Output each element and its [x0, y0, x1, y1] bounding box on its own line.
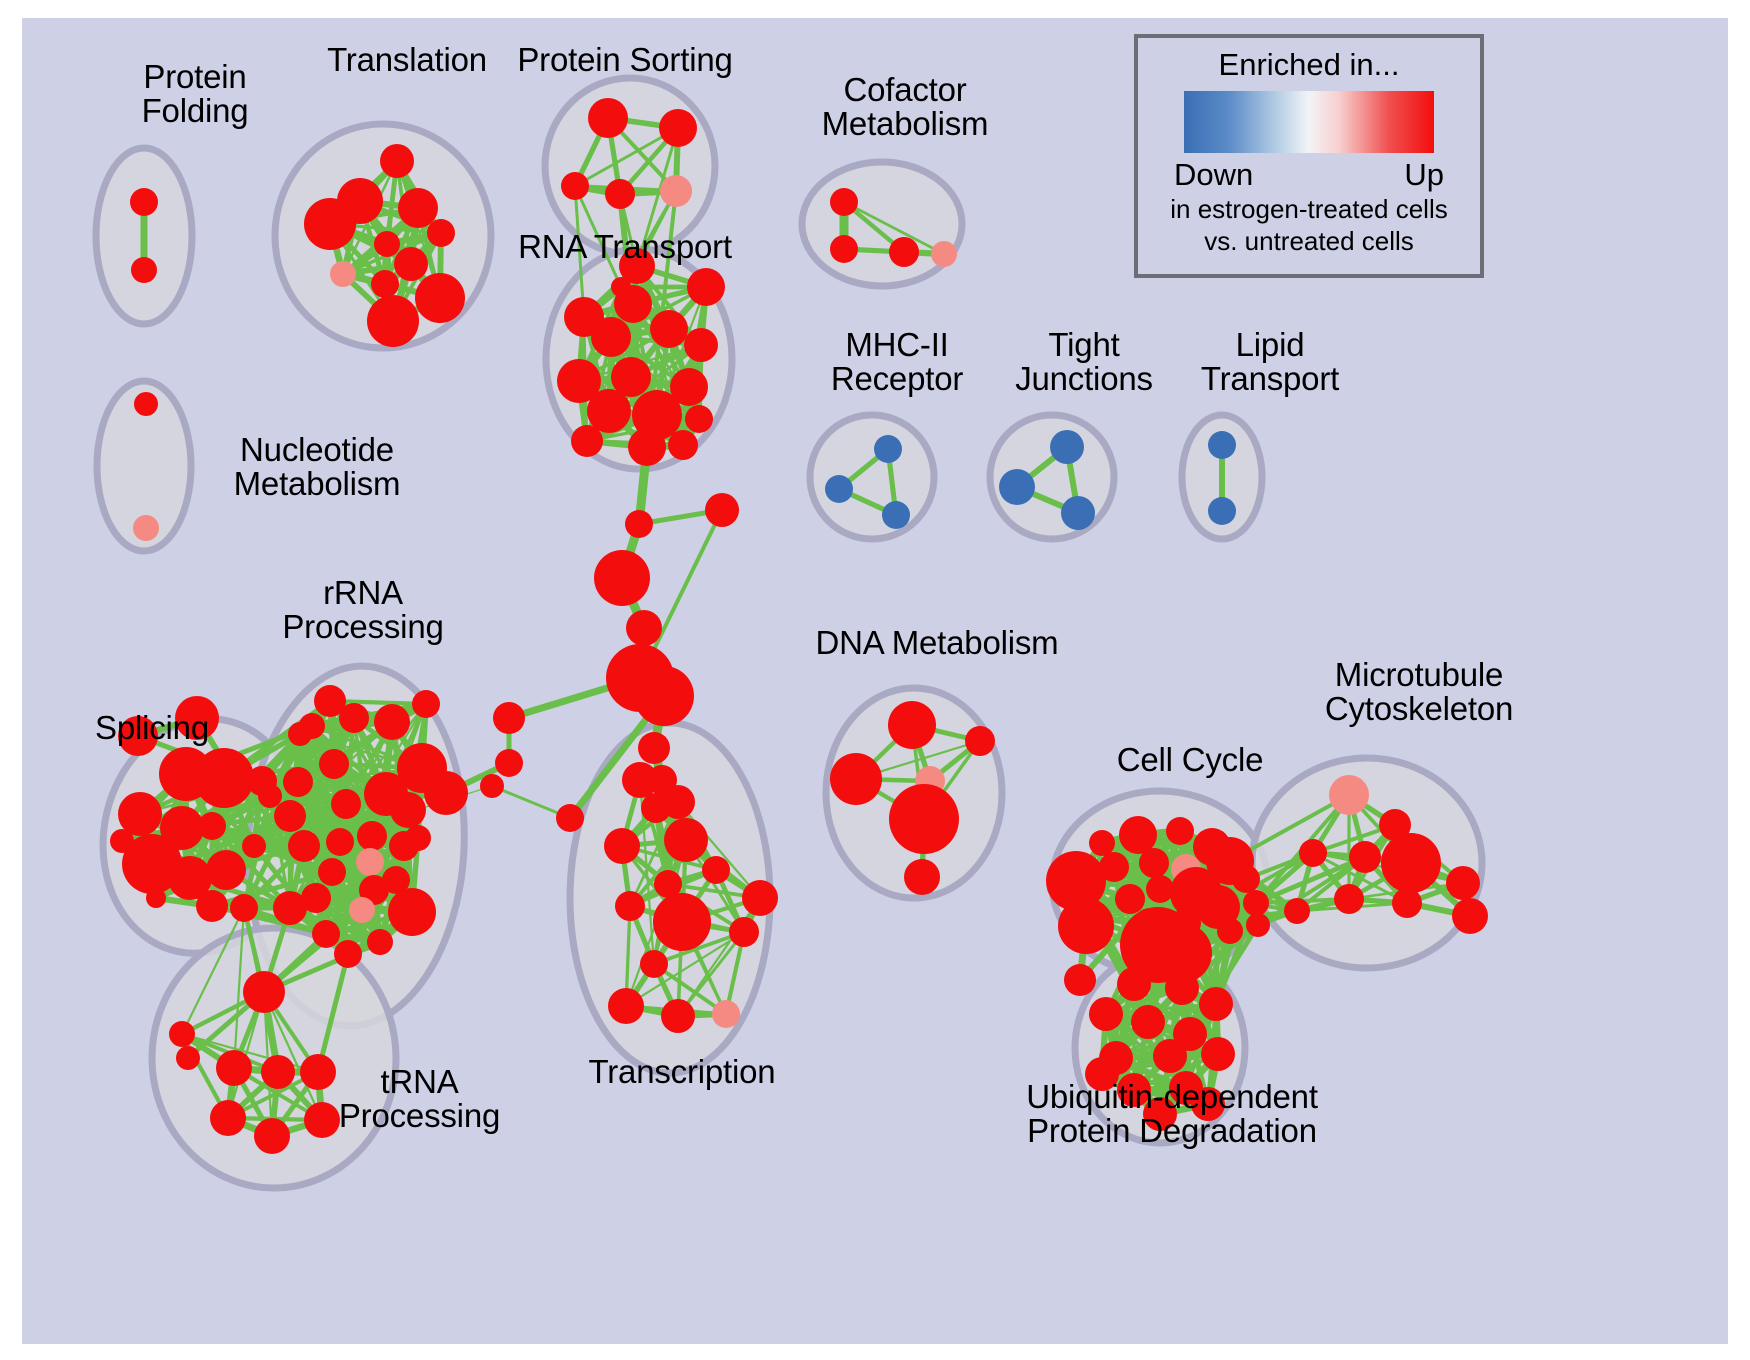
network-node[interactable]: [587, 389, 631, 433]
network-node[interactable]: [299, 713, 325, 739]
network-node[interactable]: [591, 317, 631, 357]
network-node[interactable]: [1050, 430, 1084, 464]
network-node[interactable]: [427, 219, 455, 247]
cluster-label: Ubiquitin-dependent Protein Degradation: [972, 1080, 1372, 1148]
network-node[interactable]: [1284, 898, 1310, 924]
network-node[interactable]: [615, 891, 645, 921]
network-node[interactable]: [331, 789, 361, 819]
network-node[interactable]: [687, 268, 725, 306]
network-node[interactable]: [1208, 497, 1236, 525]
network-node[interactable]: [664, 818, 708, 862]
network-node[interactable]: [243, 971, 285, 1013]
network-node[interactable]: [405, 825, 431, 851]
legend-box: Enriched in... Down Up in estrogen-treat…: [1134, 34, 1484, 278]
network-node[interactable]: [371, 270, 399, 298]
network-node[interactable]: [889, 237, 919, 267]
network-node[interactable]: [274, 800, 306, 832]
network-node[interactable]: [206, 850, 246, 890]
network-node[interactable]: [349, 897, 375, 923]
network-node[interactable]: [608, 988, 644, 1024]
network-node[interactable]: [712, 1000, 740, 1028]
network-node[interactable]: [424, 771, 468, 815]
network-node[interactable]: [634, 666, 694, 726]
network-node[interactable]: [134, 392, 158, 416]
network-node[interactable]: [261, 1055, 295, 1089]
figure-canvas: Protein FoldingTranslationProtein Sortin…: [0, 0, 1750, 1360]
network-node[interactable]: [641, 793, 671, 823]
cluster-label: Tight Junctions: [984, 328, 1184, 396]
network-node[interactable]: [334, 940, 362, 968]
cluster-label: rRNA Processing: [258, 576, 468, 644]
network-node[interactable]: [1299, 839, 1327, 867]
network-node[interactable]: [131, 257, 157, 283]
network-node[interactable]: [1166, 817, 1194, 845]
network-node[interactable]: [1064, 964, 1096, 996]
cluster-label: Protein Folding: [100, 60, 290, 128]
network-node[interactable]: [493, 702, 525, 734]
network-node[interactable]: [312, 920, 340, 948]
network-node[interactable]: [242, 834, 266, 858]
network-node[interactable]: [889, 784, 959, 854]
network-node[interactable]: [647, 765, 677, 795]
network-node[interactable]: [931, 241, 957, 267]
network-node[interactable]: [217, 758, 241, 782]
cluster-label: Nucleotide Metabolism: [202, 433, 432, 501]
network-node[interactable]: [318, 858, 346, 886]
network-node[interactable]: [1146, 875, 1174, 903]
network-node[interactable]: [254, 1118, 290, 1154]
network-node[interactable]: [1117, 967, 1151, 1001]
network-node[interactable]: [604, 828, 640, 864]
legend-down-label: Down: [1174, 157, 1253, 193]
network-node[interactable]: [356, 848, 384, 876]
legend-title: Enriched in...: [1219, 47, 1400, 83]
network-node[interactable]: [339, 703, 369, 733]
network-node[interactable]: [273, 891, 307, 925]
network-node[interactable]: [388, 888, 436, 936]
network-node[interactable]: [571, 425, 603, 457]
network-node[interactable]: [653, 893, 711, 951]
network-node[interactable]: [198, 812, 226, 840]
cluster-label: RNA Transport: [500, 230, 750, 264]
network-node[interactable]: [705, 493, 739, 527]
network-node[interactable]: [110, 829, 134, 853]
network-node[interactable]: [742, 880, 778, 916]
network-node[interactable]: [258, 784, 282, 808]
cluster-label: Microtubule Cytoskeleton: [1294, 658, 1544, 726]
network-node[interactable]: [390, 792, 426, 828]
legend-caption-line2: vs. untreated cells: [1204, 226, 1414, 257]
cluster-hull: [802, 162, 962, 286]
network-node[interactable]: [659, 109, 697, 147]
network-node[interactable]: [288, 830, 320, 862]
network-node[interactable]: [480, 774, 504, 798]
network-node[interactable]: [638, 732, 670, 764]
network-node[interactable]: [1058, 898, 1114, 954]
network-node[interactable]: [304, 198, 356, 250]
network-node[interactable]: [196, 890, 228, 922]
network-node[interactable]: [394, 247, 428, 281]
network-node[interactable]: [380, 144, 414, 178]
network-node[interactable]: [495, 749, 523, 777]
legend-colorbar: [1184, 91, 1434, 153]
network-node[interactable]: [904, 859, 940, 895]
network-node[interactable]: [210, 1100, 246, 1136]
network-node[interactable]: [888, 701, 936, 749]
network-node[interactable]: [825, 475, 853, 503]
network-node[interactable]: [999, 469, 1035, 505]
cluster-label: Protein Sorting: [500, 43, 750, 77]
network-node[interactable]: [882, 501, 910, 529]
network-node[interactable]: [1131, 1005, 1165, 1039]
network-node[interactable]: [130, 188, 158, 216]
network-node[interactable]: [216, 1050, 252, 1086]
network-node[interactable]: [594, 550, 650, 606]
network-node[interactable]: [398, 188, 438, 228]
network-node[interactable]: [561, 172, 589, 200]
network-node[interactable]: [611, 277, 631, 297]
network-node[interactable]: [650, 310, 688, 348]
network-plot-area: Protein FoldingTranslationProtein Sortin…: [22, 18, 1728, 1344]
network-node[interactable]: [1232, 865, 1260, 893]
network-node[interactable]: [146, 888, 166, 908]
network-node[interactable]: [415, 273, 465, 323]
network-node[interactable]: [1165, 971, 1199, 1005]
cluster-hull: [810, 415, 934, 539]
network-node[interactable]: [729, 917, 759, 947]
network-node[interactable]: [1201, 1037, 1235, 1071]
legend-endpoints: Down Up: [1172, 157, 1446, 193]
network-node[interactable]: [367, 295, 419, 347]
cluster-label: Transcription: [562, 1055, 802, 1089]
network-node[interactable]: [640, 950, 668, 978]
cluster-label: Splicing: [62, 711, 242, 745]
network-node[interactable]: [169, 1021, 195, 1047]
network-node[interactable]: [330, 261, 356, 287]
network-node[interactable]: [357, 821, 387, 851]
network-node[interactable]: [1217, 918, 1243, 944]
cluster-label: MHC-II Receptor: [797, 328, 997, 396]
network-node[interactable]: [628, 428, 666, 466]
network-node[interactable]: [1446, 866, 1480, 900]
network-node[interactable]: [702, 856, 730, 884]
network-node[interactable]: [176, 1046, 200, 1070]
legend-caption-line1: in estrogen-treated cells: [1170, 194, 1447, 225]
network-node[interactable]: [965, 726, 995, 756]
network-node[interactable]: [626, 610, 662, 646]
network-node[interactable]: [133, 515, 159, 541]
network-node[interactable]: [830, 753, 882, 805]
network-node[interactable]: [1199, 987, 1233, 1021]
network-node[interactable]: [1089, 830, 1115, 856]
network-node[interactable]: [1381, 833, 1441, 893]
network-node[interactable]: [830, 188, 858, 216]
network-node[interactable]: [412, 690, 440, 718]
network-node[interactable]: [1452, 898, 1488, 934]
network-node[interactable]: [684, 328, 718, 362]
network-node[interactable]: [1392, 888, 1422, 918]
cluster-label: DNA Metabolism: [807, 626, 1067, 660]
network-node[interactable]: [1153, 1039, 1187, 1073]
network-node[interactable]: [685, 405, 713, 433]
cluster-label: Cofactor Metabolism: [790, 73, 1020, 141]
network-node[interactable]: [1334, 884, 1364, 914]
network-node[interactable]: [1061, 496, 1095, 530]
cluster-label: Cell Cycle: [1090, 743, 1290, 777]
legend-up-label: Up: [1404, 157, 1444, 193]
network-node[interactable]: [661, 999, 695, 1033]
network-node[interactable]: [830, 235, 858, 263]
network-node[interactable]: [874, 435, 902, 463]
network-node[interactable]: [1115, 884, 1145, 914]
network-node[interactable]: [367, 929, 393, 955]
cluster-label: Translation: [292, 43, 522, 77]
network-node[interactable]: [668, 430, 698, 460]
network-node[interactable]: [374, 704, 410, 740]
network-node[interactable]: [319, 749, 349, 779]
network-node[interactable]: [1246, 913, 1270, 937]
network-node[interactable]: [374, 231, 400, 257]
network-node[interactable]: [605, 179, 635, 209]
network-node[interactable]: [1099, 852, 1129, 882]
network-node[interactable]: [1243, 890, 1269, 916]
network-node[interactable]: [326, 828, 354, 856]
network-node[interactable]: [230, 894, 258, 922]
network-node[interactable]: [1139, 848, 1169, 878]
network-node[interactable]: [1089, 997, 1123, 1031]
network-node[interactable]: [556, 804, 584, 832]
network-node[interactable]: [1208, 431, 1236, 459]
cluster-label: tRNA Processing: [312, 1065, 527, 1133]
network-node[interactable]: [1349, 841, 1381, 873]
network-node[interactable]: [283, 767, 313, 797]
network-node[interactable]: [588, 98, 628, 138]
network-node[interactable]: [660, 175, 692, 207]
cluster-label: Lipid Transport: [1170, 328, 1370, 396]
network-node[interactable]: [1329, 775, 1369, 815]
network-node[interactable]: [625, 510, 653, 538]
